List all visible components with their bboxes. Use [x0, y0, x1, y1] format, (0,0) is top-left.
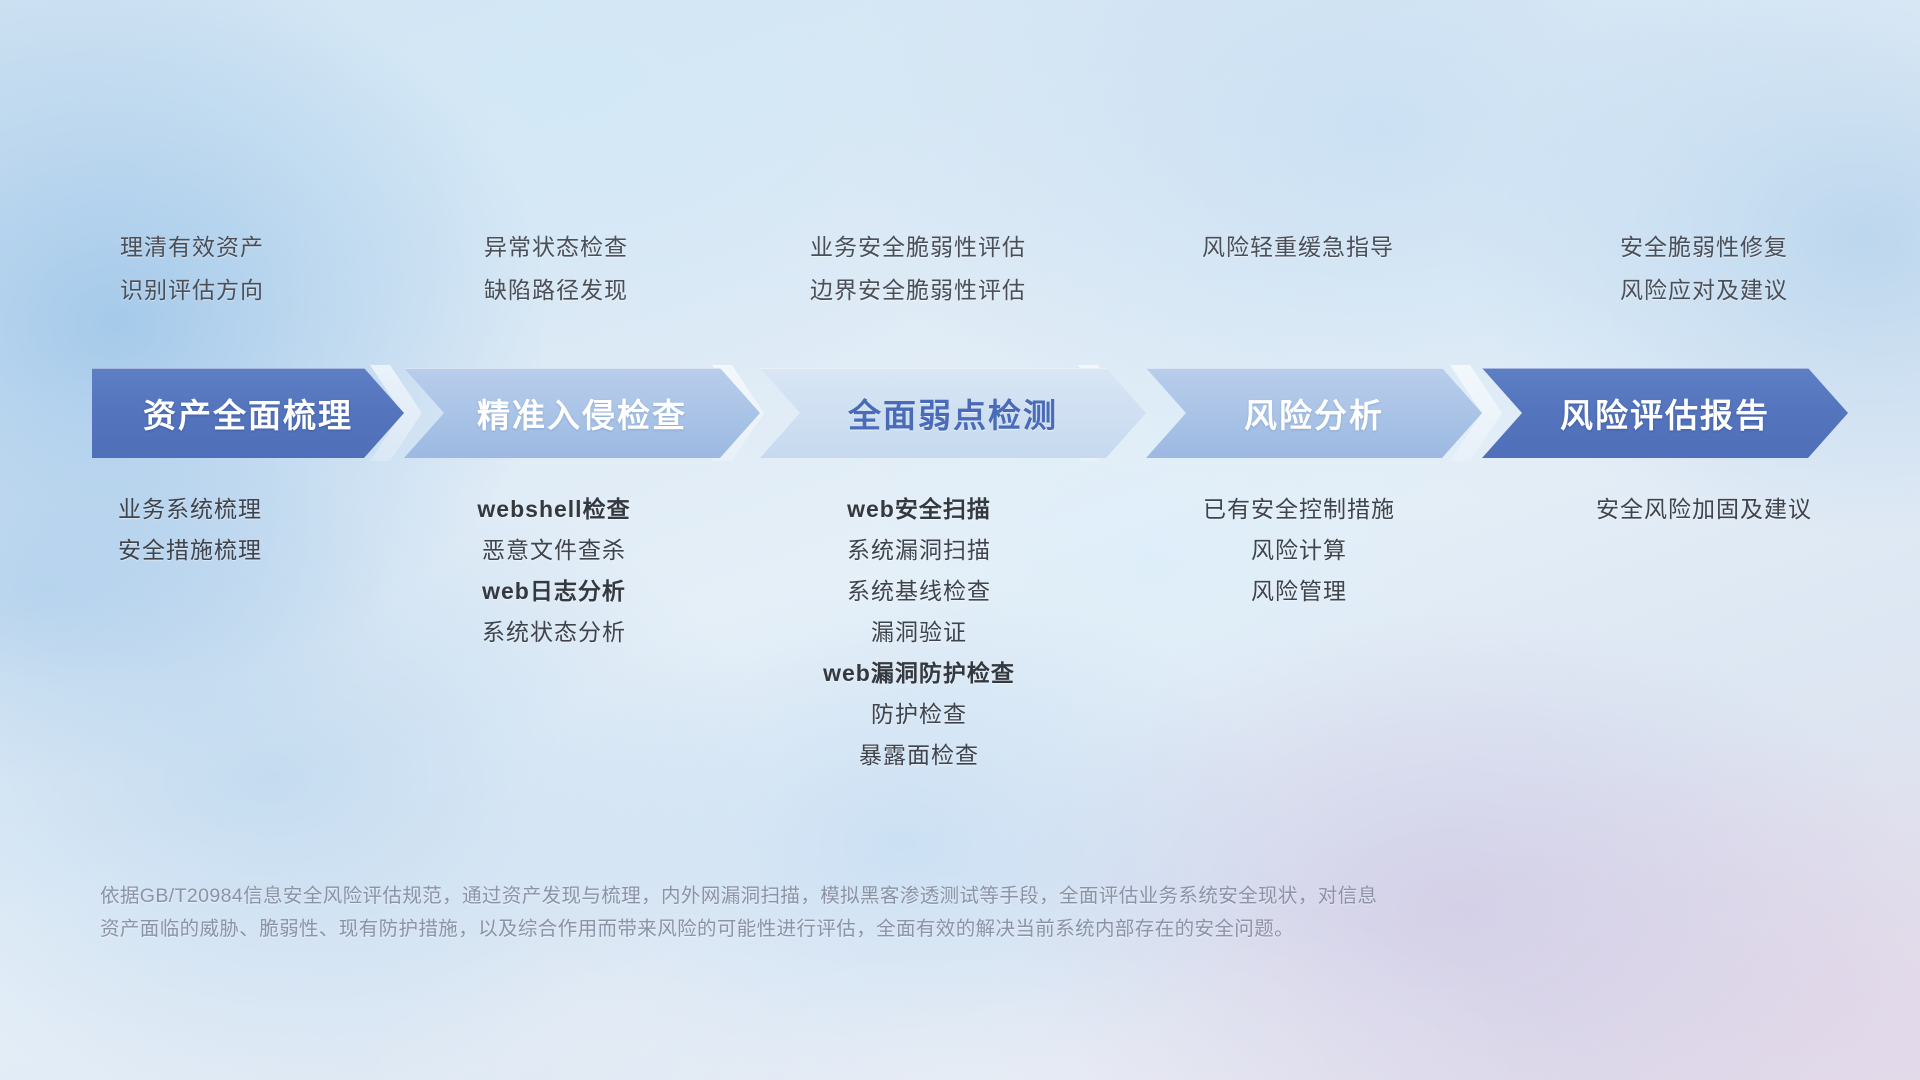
top-item-label: 风险轻重缓急指导	[1202, 236, 1394, 259]
bottom-item-label: 风险计算	[1251, 539, 1347, 562]
bottom-item-label: 业务系统梳理	[118, 498, 262, 521]
bottom-items-stage-1: 业务系统梳理 安全措施梳理	[0, 498, 380, 562]
bottom-items-stage-2: webshell检查 恶意文件查杀 web日志分析 系统状态分析	[380, 498, 728, 644]
bottom-item-label: web安全扫描	[847, 498, 991, 521]
top-items-stage-4: 风险轻重缓急指导	[1108, 236, 1488, 259]
bottom-item-label: 系统基线检查	[847, 580, 991, 603]
stage-title: 资产全面梳理	[143, 389, 353, 437]
bottom-items-stage-5: 安全风险加固及建议	[1488, 498, 1920, 521]
bottom-labels-row: 业务系统梳理 安全措施梳理 webshell检查 恶意文件查杀 web日志分析 …	[0, 498, 1920, 767]
top-item-label: 异常状态检查	[484, 236, 628, 259]
stage-chevron-risk-report[interactable]: 风险评估报告	[1482, 368, 1848, 458]
bottom-item-label: webshell检查	[477, 498, 630, 521]
stage-title: 全面弱点检测	[848, 389, 1058, 437]
bottom-items-stage-3: web安全扫描 系统漏洞扫描 系统基线检查 漏洞验证 web漏洞防护检查 防护检…	[728, 498, 1110, 767]
bottom-item-label: web漏洞防护检查	[823, 662, 1015, 685]
top-labels-row: 理清有效资产 识别评估方向 异常状态检查 缺陷路径发现 业务安全脆弱性评估 边界…	[0, 236, 1920, 302]
stage-chevron-risk-analysis[interactable]: 风险分析	[1146, 368, 1482, 458]
bottom-cell-3: web安全扫描 系统漏洞扫描 系统基线检查 漏洞验证 web漏洞防护检查 防护检…	[728, 498, 1110, 767]
footer-line-1: 依据GB/T20984信息安全风险评估规范，通过资产发现与梳理，内外网漏洞扫描，…	[100, 885, 1377, 907]
top-item-label: 安全脆弱性修复	[1620, 236, 1788, 259]
top-cell-3: 业务安全脆弱性评估 边界安全脆弱性评估	[728, 236, 1108, 302]
top-cell-4: 风险轻重缓急指导	[1108, 236, 1488, 302]
top-item-label: 业务安全脆弱性评估	[810, 236, 1026, 259]
top-item-label: 边界安全脆弱性评估	[810, 279, 1026, 302]
bottom-cell-1: 业务系统梳理 安全措施梳理	[0, 498, 380, 767]
stage-chevron-intrusion-check[interactable]: 精准入侵检查	[404, 368, 760, 458]
top-cell-2: 异常状态检查 缺陷路径发现	[384, 236, 728, 302]
bottom-item-label: 系统状态分析	[482, 621, 626, 644]
bottom-cell-2: webshell检查 恶意文件查杀 web日志分析 系统状态分析	[380, 498, 728, 767]
bottom-item-label: 防护检查	[871, 703, 967, 726]
bottom-item-label: 恶意文件查杀	[482, 539, 626, 562]
stage-chevron-asset-inventory[interactable]: 资产全面梳理	[92, 368, 404, 458]
stage-chevron-weakness-detection[interactable]: 全面弱点检测	[760, 368, 1146, 458]
top-items-stage-5: 安全脆弱性修复 风险应对及建议	[1488, 236, 1920, 302]
top-items-stage-2: 异常状态检查 缺陷路径发现	[384, 236, 728, 302]
top-item-label: 理清有效资产	[120, 236, 264, 259]
footer-line-2: 资产面临的威胁、脆弱性、现有防护措施，以及综合作用而带来风险的可能性进行评估，全…	[100, 913, 1640, 946]
top-item-label: 缺陷路径发现	[484, 279, 628, 302]
bottom-item-label: 风险管理	[1251, 580, 1347, 603]
top-item-label: 风险应对及建议	[1620, 279, 1788, 302]
stage-title: 风险分析	[1244, 389, 1384, 437]
bottom-cell-5: 安全风险加固及建议	[1488, 498, 1920, 767]
top-item-label: 识别评估方向	[120, 279, 264, 302]
top-items-stage-1: 理清有效资产 识别评估方向	[0, 236, 384, 302]
bottom-items-stage-4: 已有安全控制措施 风险计算 风险管理	[1110, 498, 1488, 603]
stage-title: 精准入侵检查	[477, 389, 687, 437]
slide-canvas: 理清有效资产 识别评估方向 异常状态检查 缺陷路径发现 业务安全脆弱性评估 边界…	[0, 0, 1920, 1080]
stage-title: 风险评估报告	[1560, 389, 1770, 437]
footer-description: 依据GB/T20984信息安全风险评估规范，通过资产发现与梳理，内外网漏洞扫描，…	[100, 880, 1640, 946]
top-cell-5: 安全脆弱性修复 风险应对及建议	[1488, 236, 1920, 302]
top-items-stage-3: 业务安全脆弱性评估 边界安全脆弱性评估	[728, 236, 1108, 302]
bottom-item-label: 漏洞验证	[871, 621, 967, 644]
bottom-item-label: web日志分析	[482, 580, 626, 603]
bottom-item-label: 系统漏洞扫描	[847, 539, 991, 562]
process-chevron-band: 资产全面梳理 精准入侵检查 全面弱点检测 风险分析 风险评估报告	[0, 368, 1920, 458]
bottom-item-label: 安全措施梳理	[118, 539, 262, 562]
bottom-item-label: 安全风险加固及建议	[1596, 498, 1812, 521]
bottom-item-label: 已有安全控制措施	[1203, 498, 1395, 521]
top-cell-1: 理清有效资产 识别评估方向	[0, 236, 384, 302]
bottom-cell-4: 已有安全控制措施 风险计算 风险管理	[1110, 498, 1488, 767]
bottom-item-label: 暴露面检查	[859, 744, 979, 767]
